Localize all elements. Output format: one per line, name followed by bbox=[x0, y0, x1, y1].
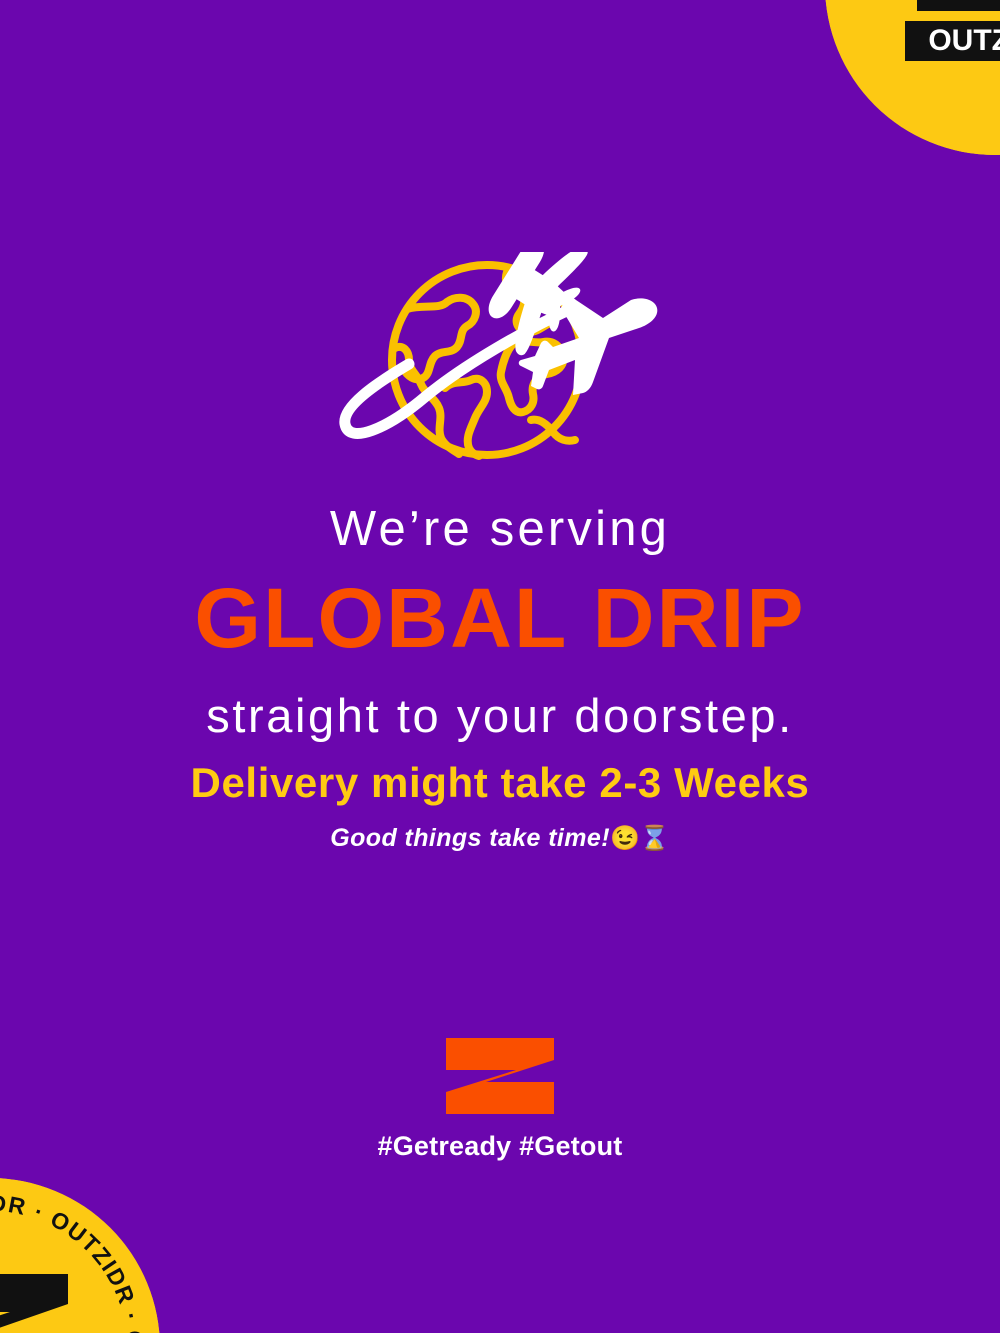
headline-main: GLOBAL DRIP bbox=[0, 576, 1000, 662]
globe-with-airplane-icon bbox=[335, 252, 665, 477]
headline-pre: We’re serving bbox=[0, 505, 1000, 554]
brand-badge-top-right: OUTZIDR · OUTZIDR · OUTZIDR · OUTZIDR · … bbox=[825, 0, 1000, 155]
delivery-subtext: Good things take time!😉⌛ bbox=[0, 826, 1000, 851]
delivery-headline: Delivery might take 2-3 Weeks bbox=[0, 762, 1000, 804]
delivery-emoji: 😉⌛ bbox=[610, 825, 670, 852]
delivery-subtext-label: Good things take time! bbox=[330, 824, 610, 852]
hashtags-text: #Getready #Getout bbox=[0, 1131, 1000, 1162]
brand-badge-bottom-left: OUTZIDR · OUTZIDR · OUTZIDR · OUTZIDR · … bbox=[0, 1178, 160, 1333]
badge-center-word: OUTZIDR bbox=[928, 24, 1000, 57]
badge-z-mark bbox=[917, 0, 1000, 11]
headline-group: We’re serving GLOBAL DRIP straight to yo… bbox=[0, 505, 1000, 739]
outzidr-z-logo bbox=[444, 1036, 556, 1116]
poster-canvas: OUTZIDR · OUTZIDR · OUTZIDR · OUTZIDR · … bbox=[0, 0, 1000, 1333]
footer-brand-group: #Getready #Getout bbox=[0, 1036, 1000, 1162]
delivery-notice-group: Delivery might take 2-3 Weeks Good thing… bbox=[0, 762, 1000, 851]
headline-post: straight to your doorstep. bbox=[0, 692, 1000, 739]
